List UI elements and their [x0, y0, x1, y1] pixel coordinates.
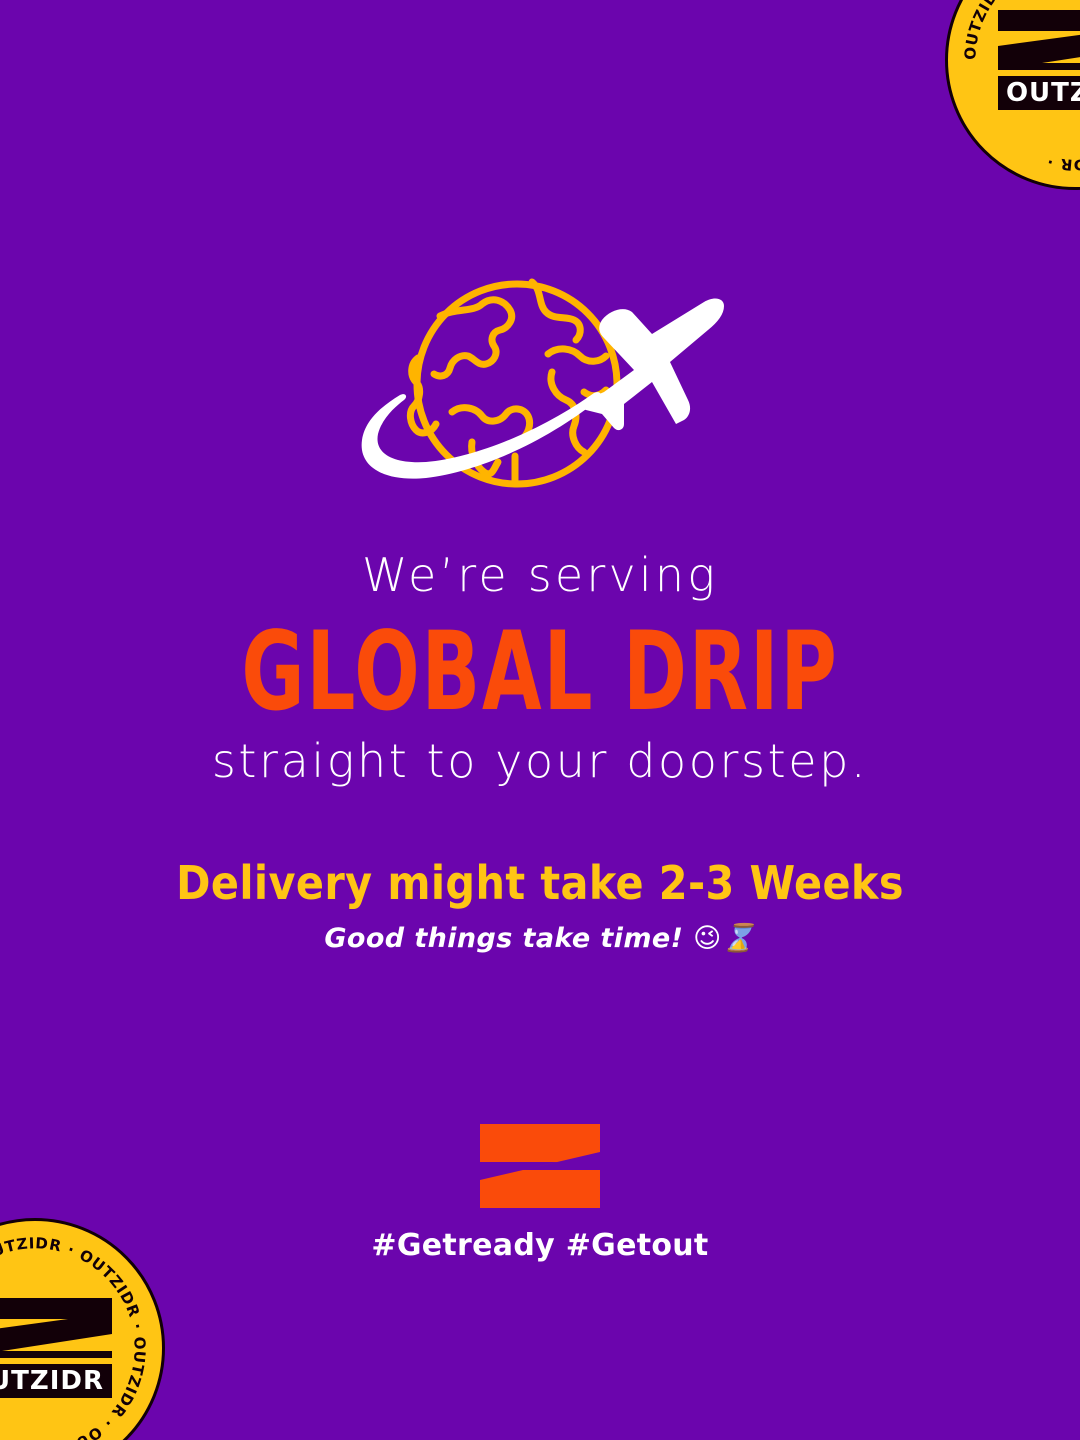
- headline-subline: straight to your doorstep.: [0, 734, 1080, 788]
- delivery-subtext: Good things take time! 😉⌛: [0, 923, 1080, 955]
- delivery-notice: Delivery might take 2-3 Weeks: [0, 856, 1080, 911]
- airplane-icon: [582, 299, 724, 431]
- headline-eyebrow: We’re serving: [0, 548, 1080, 602]
- badge-wordmark: OUTZIDR: [0, 1366, 104, 1396]
- globe-airplane-illustration: [352, 272, 728, 520]
- badge-wordmark: OUTZIDR: [1006, 78, 1080, 108]
- badge-outzidr-top-right: OUTZIDR · OUTZIDR · OUTZIDR · OUTZIDR · …: [945, 0, 1080, 190]
- copy-block: We’re serving GLOBAL DRIP straight to yo…: [0, 548, 1080, 956]
- outzidr-z-logo-icon: [477, 1122, 603, 1210]
- footer-block: #Getready #Getout: [0, 1122, 1080, 1263]
- page-title: GLOBAL DRIP: [38, 616, 1042, 729]
- poster-canvas: OUTZIDR · OUTZIDR · OUTZIDR · OUTZIDR · …: [0, 0, 1080, 1440]
- hashtags-text: #Getready #Getout: [0, 1228, 1080, 1263]
- badge-core-top-right: OUTZIDR: [990, 6, 1080, 114]
- badge-core-bottom-left: OUTZIDR: [0, 1294, 120, 1402]
